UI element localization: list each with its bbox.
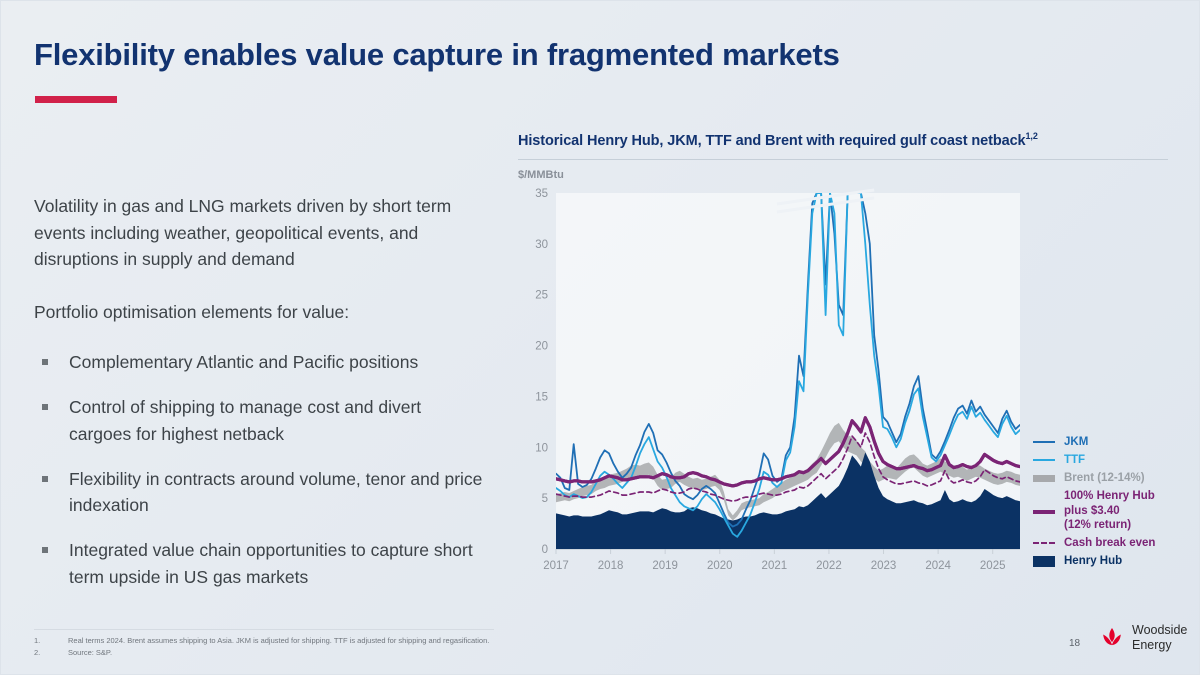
footnote-text: Real terms 2024. Brent assumes shipping … xyxy=(68,635,489,647)
bullet-text: Complementary Atlantic and Pacific posit… xyxy=(69,349,418,375)
x-axis-tick: 2020 xyxy=(707,560,733,572)
legend-item: Brent (12-14%) xyxy=(1031,471,1196,486)
chart-title-text: Historical Henry Hub, JKM, TTF and Brent… xyxy=(518,133,1026,149)
chart-legend: JKMTTFBrent (12-14%)100% Henry Hubplus $… xyxy=(1031,435,1196,572)
chart-title-divider xyxy=(518,159,1168,160)
legend-label: TTF xyxy=(1064,453,1085,468)
intro-paragraph: Volatility in gas and LNG markets driven… xyxy=(34,193,464,273)
x-axis-tick: 2019 xyxy=(652,560,678,572)
bullet-text: Control of shipping to manage cost and d… xyxy=(69,394,484,447)
x-axis-tick: 2018 xyxy=(598,560,624,572)
bullet-square-icon xyxy=(42,547,48,553)
legend-swatch-block xyxy=(1031,554,1057,568)
logo-line-2: Energy xyxy=(1132,638,1187,653)
bullet-text: Integrated value chain opportunities to … xyxy=(69,537,484,590)
legend-swatch-line xyxy=(1031,453,1057,467)
legend-label: 100% Henry Hubplus $3.40(12% return) xyxy=(1064,489,1155,533)
woodside-logo: Woodside Energy xyxy=(1099,623,1187,652)
slide-root: Flexibility enables value capture in fra… xyxy=(0,0,1200,675)
y-axis-tick: 20 xyxy=(535,340,548,352)
legend-item: JKM xyxy=(1031,435,1196,450)
woodside-flame-icon xyxy=(1099,625,1125,651)
chart-title: Historical Henry Hub, JKM, TTF and Brent… xyxy=(518,131,1168,149)
legend-label: JKM xyxy=(1064,435,1088,450)
footer-divider xyxy=(34,629,494,630)
legend-label: Brent (12-14%) xyxy=(1064,471,1145,486)
footnote-number: 1. xyxy=(34,635,68,647)
legend-item: Cash break even xyxy=(1031,536,1196,551)
y-axis-tick: 0 xyxy=(542,544,548,556)
x-axis-tick: 2022 xyxy=(816,560,842,572)
y-axis-tick: 35 xyxy=(535,188,548,200)
bullets-lead-in: Portfolio optimisation elements for valu… xyxy=(34,299,464,326)
page-title: Flexibility enables value capture in fra… xyxy=(34,37,840,73)
x-axis-tick: 2021 xyxy=(762,560,788,572)
chart-title-footnote-ref: 1,2 xyxy=(1026,131,1038,141)
list-item: Complementary Atlantic and Pacific posit… xyxy=(34,349,484,375)
footnote-row: 2. Source: S&P. xyxy=(34,647,554,659)
y-axis-tick: 15 xyxy=(535,391,548,403)
legend-swatch-dashed xyxy=(1031,536,1057,550)
bullet-square-icon xyxy=(42,404,48,410)
legend-swatch-thick xyxy=(1031,504,1057,518)
footnote-row: 1. Real terms 2024. Brent assumes shippi… xyxy=(34,635,554,647)
page-number: 18 xyxy=(1069,638,1080,649)
y-axis-tick: 5 xyxy=(542,493,548,505)
x-axis-tick: 2023 xyxy=(871,560,897,572)
y-axis-tick: 30 xyxy=(535,239,548,251)
footnote-text: Source: S&P. xyxy=(68,647,112,659)
body-copy: Volatility in gas and LNG markets driven… xyxy=(34,193,464,351)
x-axis-tick: 2024 xyxy=(925,560,951,572)
legend-swatch-bar xyxy=(1031,471,1057,485)
footnote-number: 2. xyxy=(34,647,68,659)
legend-item: Henry Hub xyxy=(1031,554,1196,569)
legend-swatch-line xyxy=(1031,435,1057,449)
bullet-list: Complementary Atlantic and Pacific posit… xyxy=(34,349,484,609)
x-axis-tick: 2017 xyxy=(543,560,569,572)
bullet-text: Flexibility in contracts around volume, … xyxy=(69,466,484,519)
legend-label: Henry Hub xyxy=(1064,554,1122,569)
x-axis-tick: 2025 xyxy=(980,560,1006,572)
logo-line-1: Woodside xyxy=(1132,623,1187,638)
legend-item: 100% Henry Hubplus $3.40(12% return) xyxy=(1031,489,1196,533)
list-item: Control of shipping to manage cost and d… xyxy=(34,394,484,447)
list-item: Flexibility in contracts around volume, … xyxy=(34,466,484,519)
legend-label: Cash break even xyxy=(1064,536,1155,551)
bullet-square-icon xyxy=(42,359,48,365)
bullet-square-icon xyxy=(42,476,48,482)
y-axis-tick: 10 xyxy=(535,442,548,454)
footnotes: 1. Real terms 2024. Brent assumes shippi… xyxy=(34,635,554,660)
y-axis-unit-label: $/MMBtu xyxy=(518,169,1168,181)
list-item: Integrated value chain opportunities to … xyxy=(34,537,484,590)
legend-item: TTF xyxy=(1031,453,1196,468)
logo-text: Woodside Energy xyxy=(1132,623,1187,652)
y-axis-tick: 25 xyxy=(535,290,548,302)
title-accent-rule xyxy=(35,96,117,103)
